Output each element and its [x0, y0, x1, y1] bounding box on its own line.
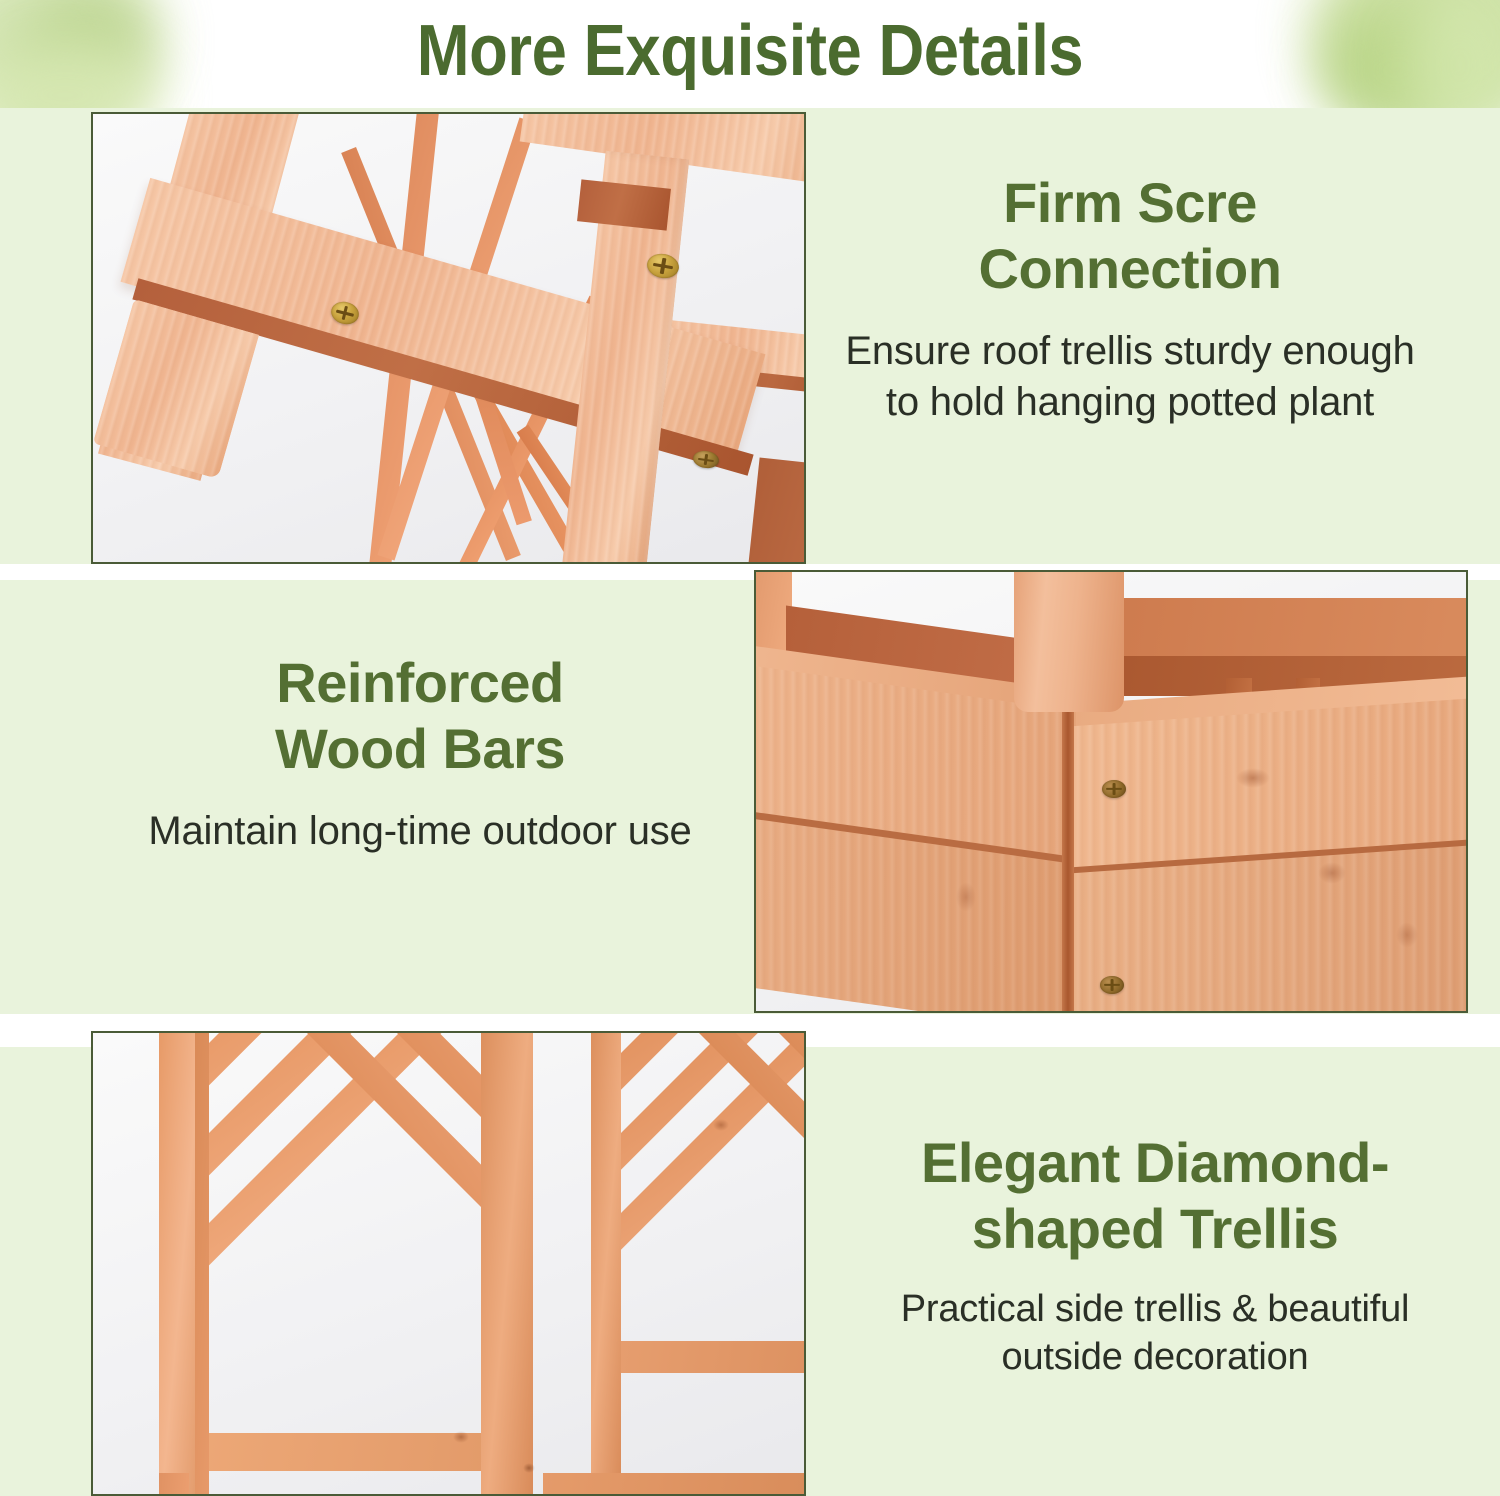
feature-heading-line-2: Wood Bars	[275, 717, 565, 780]
trellis-panel-front	[203, 1031, 503, 1496]
feature-image-reinforced-wood-bars	[754, 570, 1468, 1013]
trellis-frame-post-left	[159, 1031, 197, 1496]
wood-knot	[453, 1431, 469, 1443]
screw-icon	[1100, 976, 1124, 994]
wood-rail-rear-upper	[1086, 598, 1468, 658]
screw-icon	[523, 1463, 535, 1473]
trellis-leg-front	[159, 1473, 189, 1496]
feature-image-diamond-trellis	[91, 1031, 806, 1496]
feature-body: Maintain long-time outdoor use	[120, 806, 720, 856]
feature-heading-line-1: Elegant Diamond-	[921, 1131, 1389, 1194]
wood-knot	[713, 1119, 729, 1131]
wood-corner-post	[1014, 570, 1124, 712]
feature-image-screw-connection	[91, 112, 806, 564]
screw-icon	[1102, 780, 1126, 798]
page-title: More Exquisite Details	[90, 10, 1410, 92]
wood-box-corner-edge	[1062, 698, 1074, 1013]
feature-heading-line-1: Firm Scre	[1003, 171, 1257, 234]
trellis-bottom-rail-rear	[591, 1341, 806, 1373]
feature-text-diamond-trellis: Elegant Diamond- shaped Trellis Practica…	[840, 1130, 1470, 1382]
wood-knot	[1318, 862, 1346, 884]
feature-text-reinforced-wood-bars: Reinforced Wood Bars Maintain long-time …	[120, 650, 720, 857]
trellis-panel-rear	[615, 1031, 806, 1459]
trellis-frame-post-rear	[591, 1031, 621, 1496]
trellis-frame-post-right	[481, 1031, 533, 1496]
feature-heading: Elegant Diamond- shaped Trellis	[840, 1130, 1470, 1262]
wood-knot	[1396, 922, 1418, 948]
wood-knot	[956, 882, 976, 912]
trellis-base-crossbar	[543, 1473, 806, 1496]
feature-text-screw-connection: Firm Scre Connection Ensure roof trellis…	[840, 170, 1420, 427]
feature-heading: Firm Scre Connection	[840, 170, 1420, 302]
feature-heading-line-1: Reinforced	[276, 651, 564, 714]
feature-heading-line-2: shaped Trellis	[972, 1197, 1339, 1260]
feature-body: Practical side trellis & beautiful outsi…	[840, 1286, 1470, 1382]
feature-heading: Reinforced Wood Bars	[120, 650, 720, 782]
feature-body: Ensure roof trellis sturdy enough to hol…	[840, 326, 1420, 427]
feature-heading-line-2: Connection	[979, 237, 1282, 300]
trellis-frame-post-left-edge	[195, 1031, 209, 1496]
wood-knot	[1236, 768, 1270, 788]
